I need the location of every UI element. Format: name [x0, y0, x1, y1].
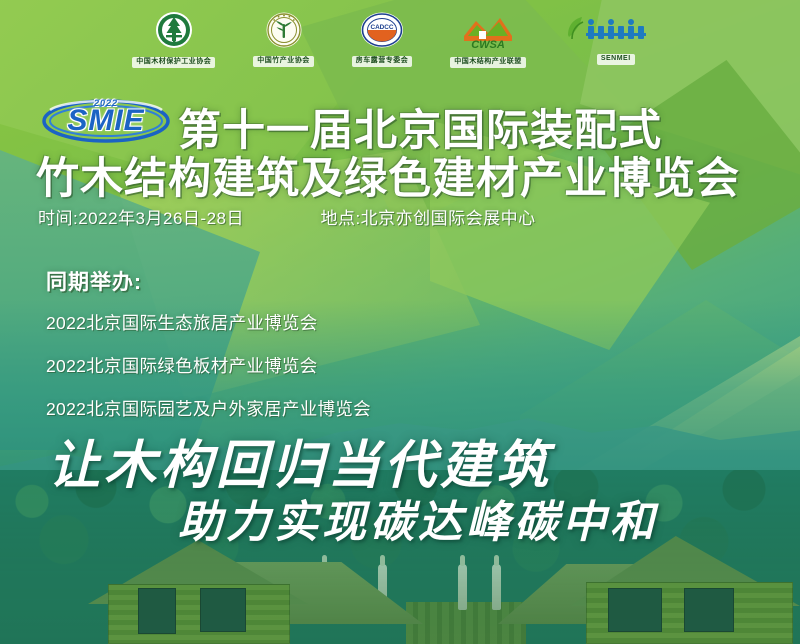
wooden-cabin-right: [498, 540, 800, 644]
leaf-wordmark-icon: [564, 13, 668, 52]
bamboo-seal-icon: [265, 11, 303, 54]
cadcc-oval-icon: CADCC: [360, 11, 404, 54]
logo-caption: 中国木材保护工业协会: [132, 57, 215, 67]
page-title-line-2: 竹木结构建筑及绿色建材产业博览会: [36, 144, 740, 206]
event-meta: 时间:2022年3月26日-28日 地点:北京亦创国际会展中心: [38, 204, 536, 229]
smie-acronym: SMIE: [67, 104, 144, 138]
concurrent-events-list: 2022北京国际生态旅居产业博览会 2022北京国际绿色板材产业博览会 2022…: [46, 310, 371, 421]
slogan-line-2: 助力实现碳达峰碳中和: [178, 486, 658, 550]
concurrent-events-block: 同期举办: 2022北京国际生态旅居产业博览会 2022北京国际绿色板材产业博览…: [46, 266, 371, 439]
logo-china-wood-protection: 中国木材保护工业协会: [132, 10, 215, 67]
logo-caption: 中国木结构产业联盟: [450, 57, 526, 67]
cabin-wall: [108, 584, 290, 644]
event-venue: 地点:北京亦创国际会展中心: [320, 209, 535, 228]
logo-cadcc-rv-camping: CADCC 房车露营专委会: [352, 11, 413, 66]
cabin-window: [608, 588, 662, 632]
wooden-cabin-left: [88, 540, 418, 644]
svg-text:CADCC: CADCC: [370, 24, 393, 31]
patio-umbrella: [458, 564, 467, 610]
house-roof-icon: CWSA: [459, 10, 517, 55]
cabin-window: [684, 588, 734, 632]
svg-text:CWSA: CWSA: [471, 39, 505, 50]
logo-caption: 中国竹产业协会: [253, 56, 314, 66]
list-item: 2022北京国际绿色板材产业博览会: [46, 353, 371, 378]
smie-logo: 2022 SMIE: [40, 96, 172, 144]
event-date: 时间:2022年3月26日-28日: [38, 209, 244, 228]
concurrent-events-heading: 同期举办:: [46, 266, 371, 296]
list-item: 2022北京国际生态旅居产业博览会: [46, 310, 371, 335]
exhibition-poster: 中国木材保护工业协会: [0, 0, 800, 644]
cabin-window: [138, 588, 176, 634]
logo-caption: SENMEI: [597, 54, 635, 64]
logo-senmei: SENMEI: [564, 13, 668, 64]
sponsor-logo-strip: 中国木材保护工业协会: [0, 0, 800, 78]
logo-cwsa-wood-structure: CWSA 中国木结构产业联盟: [450, 10, 526, 67]
logo-caption: 房车露营专委会: [352, 56, 413, 66]
list-item: 2022北京国际园艺及户外家居产业博览会: [46, 396, 371, 421]
logo-bamboo-association: 中国竹产业协会: [253, 11, 314, 66]
cabin-door: [200, 588, 246, 632]
tree-emblem-icon: [154, 10, 194, 55]
